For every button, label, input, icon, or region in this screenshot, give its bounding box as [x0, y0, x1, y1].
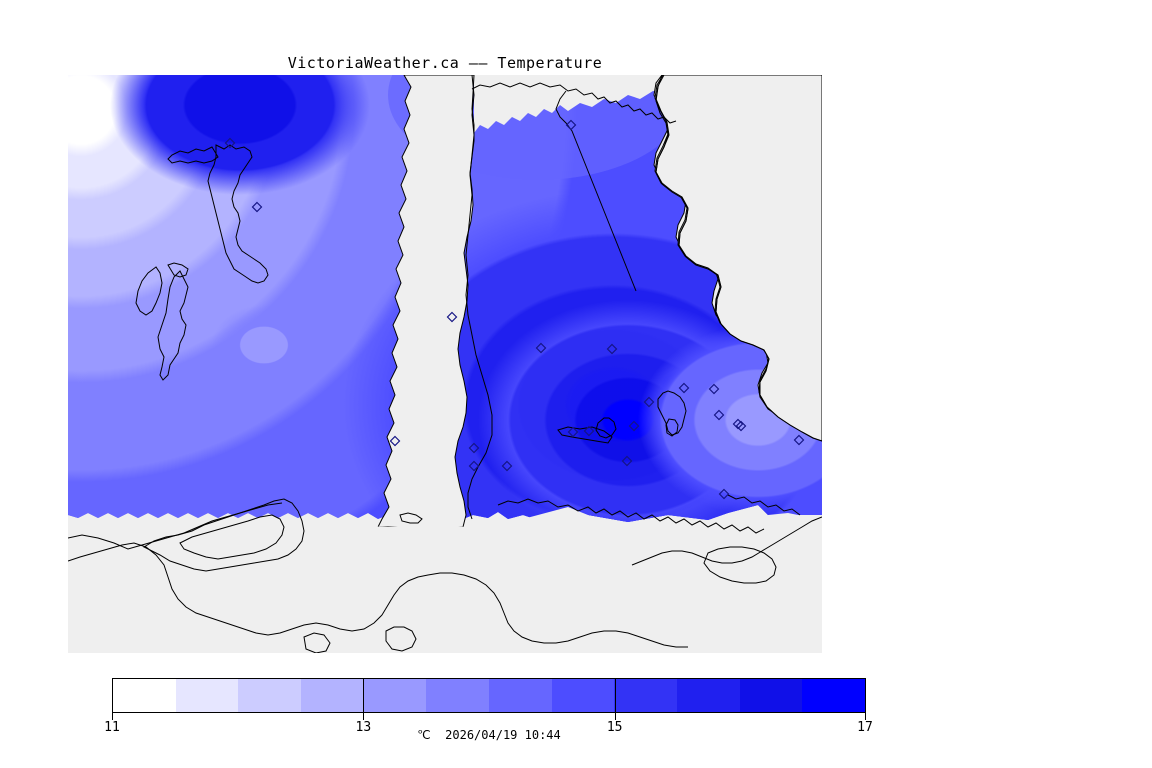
colorbar[interactable]: 11131517: [112, 678, 866, 723]
colorbar-divider-13: [363, 679, 364, 712]
colorbar-band-2: [238, 679, 301, 712]
colorbar-tick-13: [363, 713, 364, 720]
colorbar-band-6: [489, 679, 552, 712]
colorbar-band-0: [113, 679, 176, 712]
colorbar-band-9: [677, 679, 740, 712]
land-south-fill: [68, 507, 822, 653]
map-panel[interactable]: [68, 75, 822, 653]
colorbar-tick-15: [615, 713, 616, 720]
colorbar-band-1: [176, 679, 239, 712]
colorbar-band-11: [802, 679, 865, 712]
page-title: VictoriaWeather.ca —— Temperature: [68, 54, 822, 72]
temperature-contour-map[interactable]: [68, 75, 822, 653]
colorbar-divider-15: [615, 679, 616, 712]
colorbar-band-5: [426, 679, 489, 712]
colorbar-units-timestamp: ℃ 2026/04/19 10:44: [112, 728, 866, 742]
colorbar-tick-11: [112, 713, 113, 720]
colorbar-strip[interactable]: [112, 678, 866, 713]
colorbar-band-4: [364, 679, 427, 712]
colorbar-band-8: [614, 679, 677, 712]
colorbar-band-3: [301, 679, 364, 712]
colorbar-band-10: [740, 679, 803, 712]
colorbar-tick-17: [865, 713, 866, 720]
colorbar-axis: 11131517: [112, 713, 866, 723]
colorbar-band-7: [552, 679, 615, 712]
